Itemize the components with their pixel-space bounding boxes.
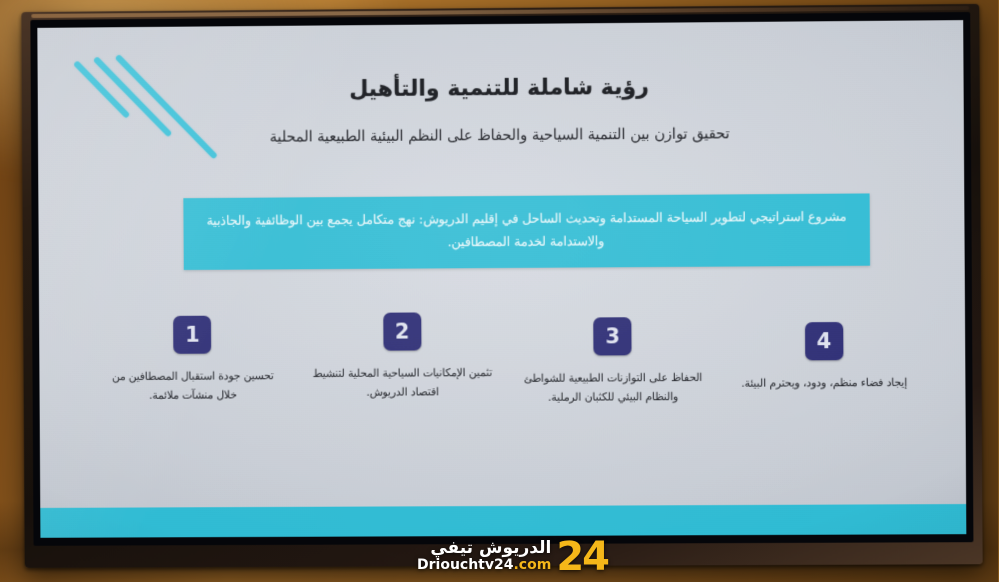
pillar-item-2: 2 تثمين الإمكانيات السياحية المحلية لتنش… — [309, 312, 498, 403]
watermark-arabic-name: الدريوش تيفي — [431, 540, 552, 557]
pillar-item-1: 1 تحسين جودة استقبال المصطافين من خلال م… — [100, 315, 288, 406]
pillar-number-badge-2: 2 — [384, 312, 422, 350]
presentation-slide: رؤية شاملة للتنمية والتأهيل تحقيق توازن … — [38, 20, 967, 538]
pillar-text-3: الحفاظ على التوازنات الطبيعية للشواطئ وا… — [524, 369, 705, 408]
pillar-text-2: تثمين الإمكانيات السياحية المحلية لتنشيط… — [314, 364, 494, 403]
pillar-number-badge-4: 4 — [806, 322, 844, 360]
pillar-text-4: إيجاد فضاء منظم، ودود، ويحترم البيئة. — [742, 374, 908, 394]
project-banner-text: مشروع استراتيجي لتطوير السياحة المستدامة… — [202, 204, 852, 255]
watermark-url: Driouchtv24.com — [418, 558, 552, 572]
pillar-number-badge-3: 3 — [594, 317, 632, 355]
watermark-url-prefix: Driouchtv24 — [418, 557, 514, 573]
pillar-text-1: تحسين جودة استقبال المصطافين من خلال منش… — [104, 367, 283, 406]
pillar-item-4: 4 إيجاد فضاء منظم، ودود، ويحترم البيئة. — [730, 322, 920, 394]
project-banner: مشروع استراتيجي لتطوير السياحة المستدامة… — [184, 193, 871, 270]
screen-panel: رؤية شاملة للتنمية والتأهيل تحقيق توازن … — [38, 20, 967, 538]
watermark-text-stack: الدريوش تيفي Driouchtv24.com — [418, 540, 552, 576]
pillar-number-badge-1: 1 — [174, 316, 212, 354]
watermark-number: 24 — [557, 539, 609, 576]
pillar-list: 4 إيجاد فضاء منظم، ودود، ويحترم البيئة. … — [100, 310, 921, 454]
broadcaster-watermark: 24 الدريوش تيفي Driouchtv24.com — [418, 524, 609, 576]
watermark-url-suffix: .com — [514, 557, 552, 573]
television-display: رؤية شاملة للتنمية والتأهيل تحقيق توازن … — [22, 4, 983, 568]
pillar-item-3: 3 الحفاظ على التوازنات الطبيعية للشواطئ … — [519, 317, 708, 408]
